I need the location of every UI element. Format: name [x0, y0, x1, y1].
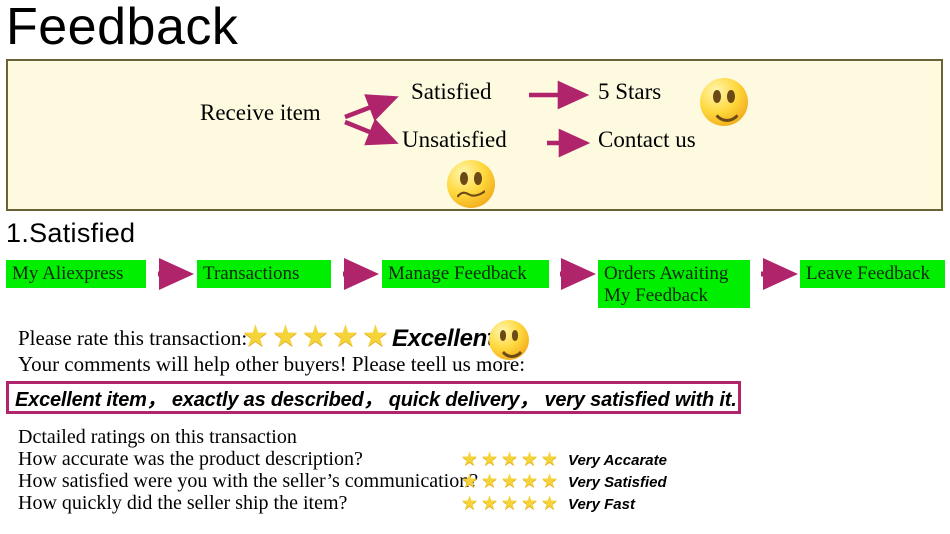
- detailed-ratings-heading: Dctailed ratings on this transaction: [18, 426, 297, 449]
- breadcrumb-my-aliexpress[interactable]: My Aliexpress: [6, 260, 146, 288]
- star-icon[interactable]: ★: [461, 450, 481, 469]
- star-icon[interactable]: ★: [332, 322, 362, 352]
- star-icon[interactable]: ★: [461, 472, 481, 491]
- flow-node-receive-item: Receive item: [200, 100, 321, 126]
- flow-node-unsatisfied: Unsatisfied: [402, 127, 507, 153]
- detail-value-shipping: Very Fast: [568, 496, 635, 513]
- star-icon[interactable]: ★: [541, 450, 561, 469]
- star-icon[interactable]: ★: [521, 472, 541, 491]
- star-icon[interactable]: ★: [521, 450, 541, 469]
- page-title: Feedback: [6, 0, 238, 56]
- section-heading-satisfied: 1.Satisfied: [6, 218, 135, 249]
- star-icon[interactable]: ★: [272, 322, 302, 352]
- comment-input-box[interactable]: Excellent item， exactly as described， qu…: [6, 381, 741, 414]
- star-icon[interactable]: ★: [541, 494, 561, 513]
- overall-star-rating[interactable]: ★ ★ ★ ★ ★: [242, 322, 392, 352]
- star-icon[interactable]: ★: [302, 322, 332, 352]
- detail-question-accuracy: How accurate was the product description…: [18, 448, 363, 471]
- happy-face-icon: [700, 78, 748, 126]
- flow-node-five-stars: 5 Stars: [598, 79, 661, 105]
- comment-input-value[interactable]: Excellent item， exactly as described， qu…: [9, 383, 737, 412]
- mouth-smile: [710, 97, 744, 122]
- breadcrumb-transactions[interactable]: Transactions: [197, 260, 331, 288]
- flow-node-contact-us: Contact us: [598, 127, 696, 153]
- detail-question-communication: How satisfied were you with the seller’s…: [18, 470, 478, 493]
- star-icon[interactable]: ★: [362, 322, 392, 352]
- mouth-wavy: [457, 188, 486, 200]
- detail-value-communication: Very Satisfied: [568, 474, 667, 491]
- eye-right: [474, 172, 482, 184]
- eye-left: [460, 172, 468, 184]
- star-icon[interactable]: ★: [481, 472, 501, 491]
- star-icon[interactable]: ★: [501, 472, 521, 491]
- star-icon[interactable]: ★: [501, 450, 521, 469]
- detail-question-shipping: How quickly did the seller ship the item…: [18, 492, 347, 515]
- mouth-smile: [497, 336, 526, 358]
- star-icon[interactable]: ★: [242, 322, 272, 352]
- rating-verdict-label: Excellent: [392, 325, 495, 353]
- flow-node-satisfied: Satisfied: [411, 79, 492, 105]
- comments-prompt-label: Your comments will help other buyers! Pl…: [18, 352, 525, 377]
- star-icon[interactable]: ★: [481, 494, 501, 513]
- rate-transaction-label: Please rate this transaction:: [18, 326, 247, 351]
- breadcrumb-manage-feedback[interactable]: Manage Feedback: [382, 260, 549, 288]
- detail-star-rating-communication[interactable]: ★ ★ ★ ★ ★: [461, 472, 561, 491]
- star-icon[interactable]: ★: [541, 472, 561, 491]
- star-icon[interactable]: ★: [461, 494, 481, 513]
- happy-face-icon: [489, 320, 529, 360]
- star-icon[interactable]: ★: [481, 450, 501, 469]
- detail-star-rating-shipping[interactable]: ★ ★ ★ ★ ★: [461, 494, 561, 513]
- star-icon[interactable]: ★: [521, 494, 541, 513]
- star-icon[interactable]: ★: [501, 494, 521, 513]
- confused-face-icon: [447, 160, 495, 208]
- breadcrumb-leave-feedback[interactable]: Leave Feedback: [800, 260, 945, 288]
- detail-star-rating-accuracy[interactable]: ★ ★ ★ ★ ★: [461, 450, 561, 469]
- breadcrumb-orders-awaiting[interactable]: Orders Awaiting My Feedback: [598, 260, 750, 308]
- detail-value-accuracy: Very Accarate: [568, 452, 667, 469]
